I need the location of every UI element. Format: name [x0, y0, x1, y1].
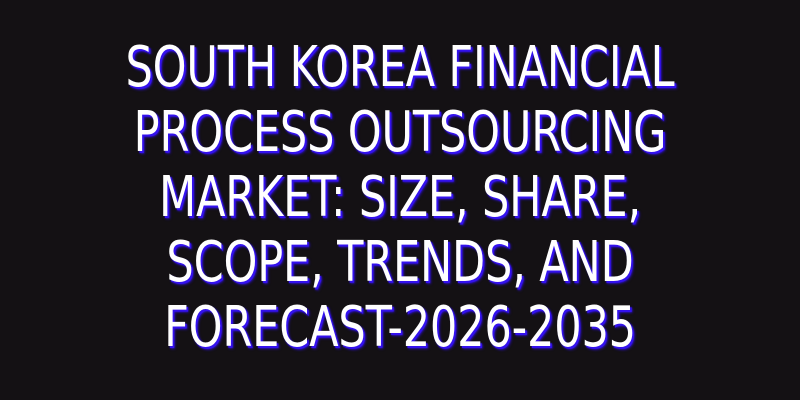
title-line-4: SCOPE, TRENDS, AND [118, 230, 682, 295]
title-line-2: PROCESS OUTSOURCING [118, 100, 682, 165]
title-line-1: SOUTH KOREA FINANCIAL [118, 35, 682, 100]
title-banner: SOUTH KOREA FINANCIAL PROCESS OUTSOURCIN… [0, 0, 800, 400]
page-title: SOUTH KOREA FINANCIAL PROCESS OUTSOURCIN… [70, 35, 730, 366]
title-line-5: FORECAST-2026-2035 [118, 295, 682, 360]
title-line-3: MARKET: SIZE, SHARE, [118, 165, 682, 230]
